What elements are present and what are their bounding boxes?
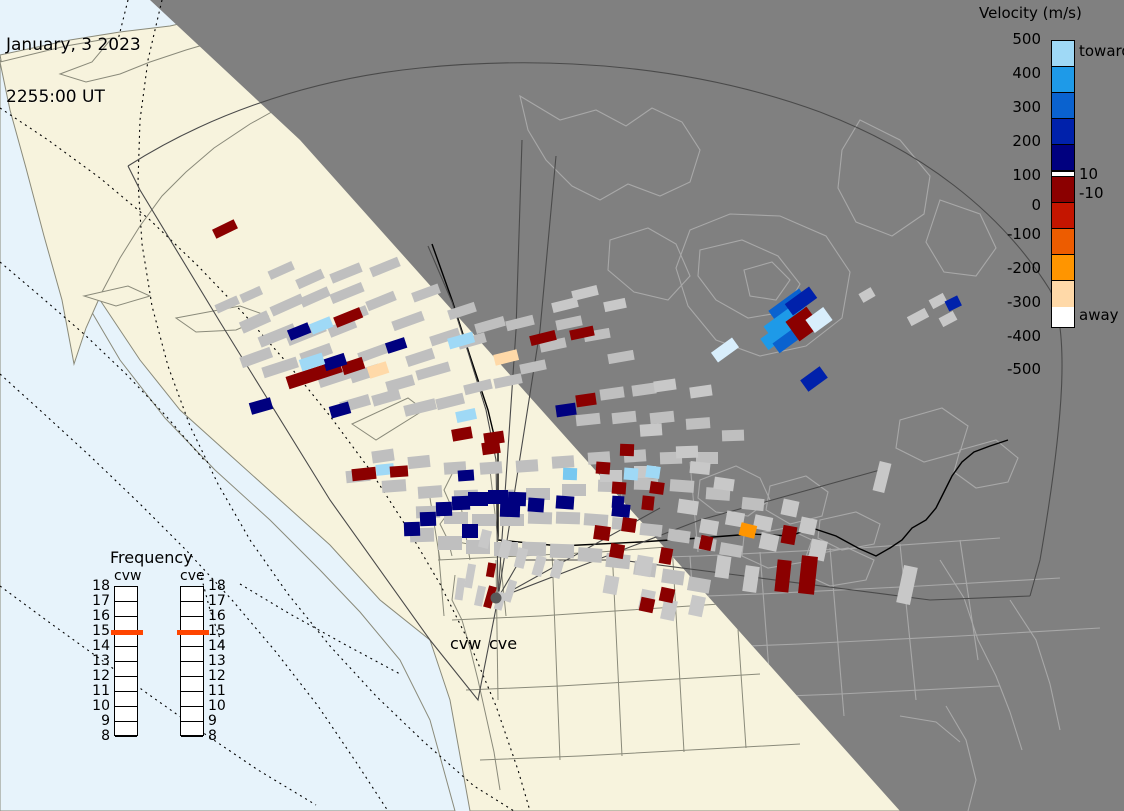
frequency-scale-value: 11: [92, 684, 110, 698]
frequency-scale-value: 12: [92, 669, 110, 683]
frequency-scale-value: 14: [208, 639, 226, 653]
colorbar-tick: -400: [1007, 329, 1041, 344]
frequency-scale-value: 14: [92, 639, 110, 653]
colorbar-segment: [1052, 255, 1074, 281]
frequency-cell: [181, 707, 203, 722]
frequency-scale-value: 18: [92, 579, 110, 593]
frequency-cell: [115, 647, 137, 662]
frequency-cell: [181, 677, 203, 692]
colorbar-tick: -200: [1007, 261, 1041, 276]
colorbar-segment: [1052, 119, 1074, 145]
frequency-scale-value: 15: [208, 624, 226, 638]
colorbar-tick: -300: [1007, 295, 1041, 310]
colorbar-segment: [1052, 93, 1074, 119]
frequency-cell: [115, 662, 137, 677]
frequency-cell: [115, 602, 137, 617]
frequency-cell: [115, 677, 137, 692]
colorbar-segment: [1052, 177, 1074, 203]
title-time: 2255:00 UT: [6, 89, 141, 106]
frequency-marker: [111, 630, 143, 635]
frequency-legend-title: Frequency: [110, 548, 193, 567]
frequency-scale-value: 17: [208, 594, 226, 608]
frequency-scale-value: 8: [208, 729, 217, 743]
timestamp-title: January, 3 2023 2255:00 UT: [6, 2, 141, 141]
frequency-scale-value: 8: [101, 729, 110, 743]
frequency-scale-value: 10: [208, 699, 226, 713]
frequency-marker: [177, 630, 209, 635]
colorbar-tick: -100: [1007, 227, 1041, 242]
frequency-scale-value: 17: [92, 594, 110, 608]
frequency-scale-value: 11: [208, 684, 226, 698]
colorbar-tick: 100: [1012, 168, 1041, 183]
frequency-cell: [181, 647, 203, 662]
frequency-scale-cve: 18171615141312111098: [208, 578, 230, 744]
colorbar-away-label: away: [1079, 308, 1119, 323]
colorbar-segment: [1052, 229, 1074, 255]
colorbar-segment: [1052, 145, 1074, 171]
radar-map-screenshot: January, 3 2023 2255:00 UT Velocity (m/s…: [0, 0, 1124, 811]
colorbar-segment: [1052, 203, 1074, 229]
colorbar-segment: [1052, 41, 1074, 67]
frequency-scale-value: 10: [92, 699, 110, 713]
frequency-column-label-cvw: cvw: [114, 568, 141, 584]
frequency-scale-value: 16: [92, 609, 110, 623]
frequency-ladder-cve: [180, 586, 204, 736]
colorbar-segment: [1052, 67, 1074, 93]
velocity-colorbar: Velocity (m/s) 5004003002001000-100-200-…: [975, 4, 1124, 334]
frequency-scale-value: 12: [208, 669, 226, 683]
colorbar-gap-upper-label: 10: [1079, 167, 1098, 182]
title-date: January, 3 2023: [6, 37, 141, 54]
colorbar-title: Velocity (m/s): [979, 4, 1082, 22]
frequency-cell: [181, 662, 203, 677]
colorbar-tick: 200: [1012, 134, 1041, 149]
frequency-scale-value: 9: [208, 714, 217, 728]
colorbar-toward-label: toward: [1079, 44, 1124, 59]
colorbar-segment: [1052, 281, 1074, 307]
frequency-cell: [115, 722, 137, 737]
frequency-scale-value: 15: [92, 624, 110, 638]
frequency-cell: [181, 587, 203, 602]
frequency-scale-value: 16: [208, 609, 226, 623]
colorbar-tick: 300: [1012, 100, 1041, 115]
colorbar-tick: -500: [1007, 362, 1041, 377]
frequency-cell: [115, 707, 137, 722]
colorbar-tick: 400: [1012, 66, 1041, 81]
frequency-scale-value: 18: [208, 579, 226, 593]
frequency-cell: [115, 692, 137, 707]
colorbar-tick: 0: [1031, 198, 1041, 213]
frequency-cell: [181, 602, 203, 617]
frequency-scale-value: 13: [92, 654, 110, 668]
site-label-cvw: cvw: [450, 634, 481, 653]
frequency-cell: [181, 692, 203, 707]
colorbar-gap-lower-label: -10: [1079, 186, 1104, 201]
frequency-scale-value: 13: [208, 654, 226, 668]
frequency-ladder-cvw: [114, 586, 138, 736]
colorbar-tick-labels: 5004003002001000-100-200-300-400-500: [975, 32, 1045, 332]
frequency-scale-value: 9: [101, 714, 110, 728]
frequency-legend: Frequency cvw cve 18171615141312111098 1…: [88, 548, 238, 798]
frequency-column-label-cve: cve: [180, 568, 205, 584]
site-label-cve: cve: [489, 634, 517, 653]
radar-site-marker: [491, 593, 502, 604]
frequency-cell: [181, 722, 203, 737]
frequency-cell: [115, 587, 137, 602]
colorbar-gradient: [1051, 40, 1075, 328]
frequency-scale-cvw: 18171615141312111098: [88, 578, 110, 744]
colorbar-tick: 500: [1012, 32, 1041, 47]
